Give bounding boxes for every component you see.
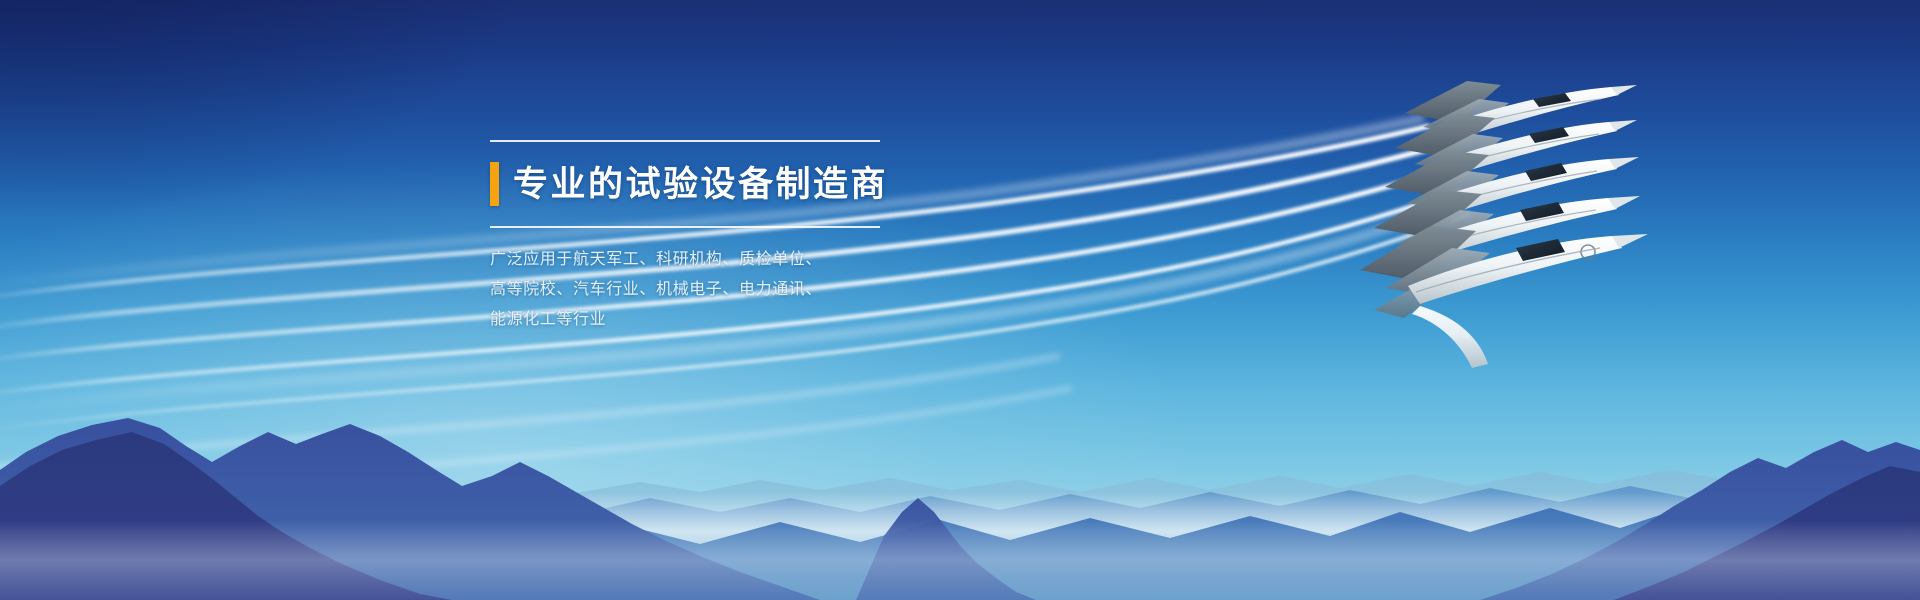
subtitle-line-2: 高等院校、汽车行业、机械电子、电力通讯、 xyxy=(490,275,920,305)
divider-top xyxy=(490,140,880,142)
subtitle-line-1: 广泛应用于航天军工、科研机构、质检单位、 xyxy=(490,245,920,275)
accent-bar xyxy=(490,162,499,206)
divider-bottom xyxy=(490,226,880,228)
subtitle-line-3: 能源化工等行业 xyxy=(490,305,920,335)
page-title: 专业的试验设备制造商 xyxy=(513,167,888,202)
mountain-range xyxy=(0,0,1920,600)
valley-mist xyxy=(0,520,1920,600)
headline-row: 专业的试验设备制造商 xyxy=(490,153,920,215)
subtitle-block: 广泛应用于航天军工、科研机构、质检单位、 高等院校、汽车行业、机械电子、电力通讯… xyxy=(490,245,920,335)
hero-banner: 专业的试验设备制造商 广泛应用于航天军工、科研机构、质检单位、 高等院校、汽车行… xyxy=(0,0,1920,600)
banner-copy: 专业的试验设备制造商 广泛应用于航天军工、科研机构、质检单位、 高等院校、汽车行… xyxy=(490,140,920,335)
